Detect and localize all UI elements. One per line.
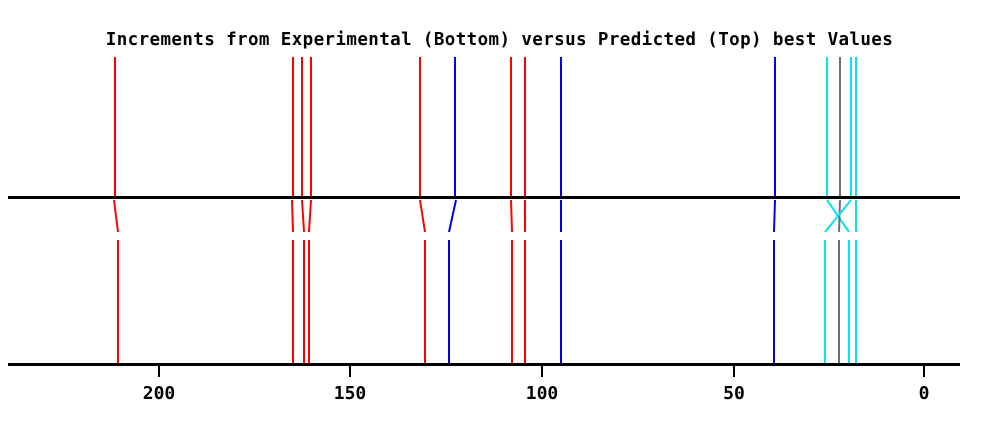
peak-line bbox=[824, 240, 826, 363]
peak-line bbox=[511, 240, 513, 363]
peak-line bbox=[448, 240, 450, 363]
peak-line bbox=[303, 240, 305, 363]
axis-tick-mark bbox=[349, 366, 351, 377]
connector-line bbox=[420, 200, 425, 232]
axis-tick-label: 200 bbox=[143, 383, 176, 404]
peak-line bbox=[855, 240, 857, 363]
peak-line bbox=[560, 240, 562, 363]
connector-line bbox=[825, 200, 851, 232]
connector-line bbox=[774, 200, 775, 232]
axis-tick-mark bbox=[158, 366, 160, 377]
connector-line bbox=[449, 200, 456, 232]
axis-tick-label: 50 bbox=[723, 383, 745, 404]
peak-line bbox=[524, 240, 526, 363]
spectrum-plot: 200150100500 bbox=[0, 0, 999, 426]
axis-tick-label: 150 bbox=[334, 383, 367, 404]
middle-axis-line bbox=[8, 196, 960, 199]
peak-line bbox=[424, 240, 426, 363]
axis-tick-label: 0 bbox=[919, 383, 930, 404]
peak-line bbox=[838, 240, 840, 363]
connector-line bbox=[309, 200, 311, 232]
connector-line bbox=[511, 200, 512, 232]
axis-tick-mark bbox=[923, 366, 925, 377]
chart-canvas: Increments from Experimental (Bottom) ve… bbox=[0, 0, 999, 426]
connector-line bbox=[292, 200, 293, 232]
axis-tick-mark bbox=[541, 366, 543, 377]
axis-tick-mark bbox=[733, 366, 735, 377]
peak-line bbox=[773, 240, 775, 363]
peak-line bbox=[117, 240, 119, 363]
peak-line bbox=[292, 240, 294, 363]
bottom-axis-line bbox=[8, 363, 960, 366]
connector-line bbox=[114, 200, 118, 232]
peak-line bbox=[308, 240, 310, 363]
peak-line bbox=[848, 240, 850, 363]
axis-tick-label: 100 bbox=[526, 383, 559, 404]
connector-line bbox=[302, 200, 304, 232]
